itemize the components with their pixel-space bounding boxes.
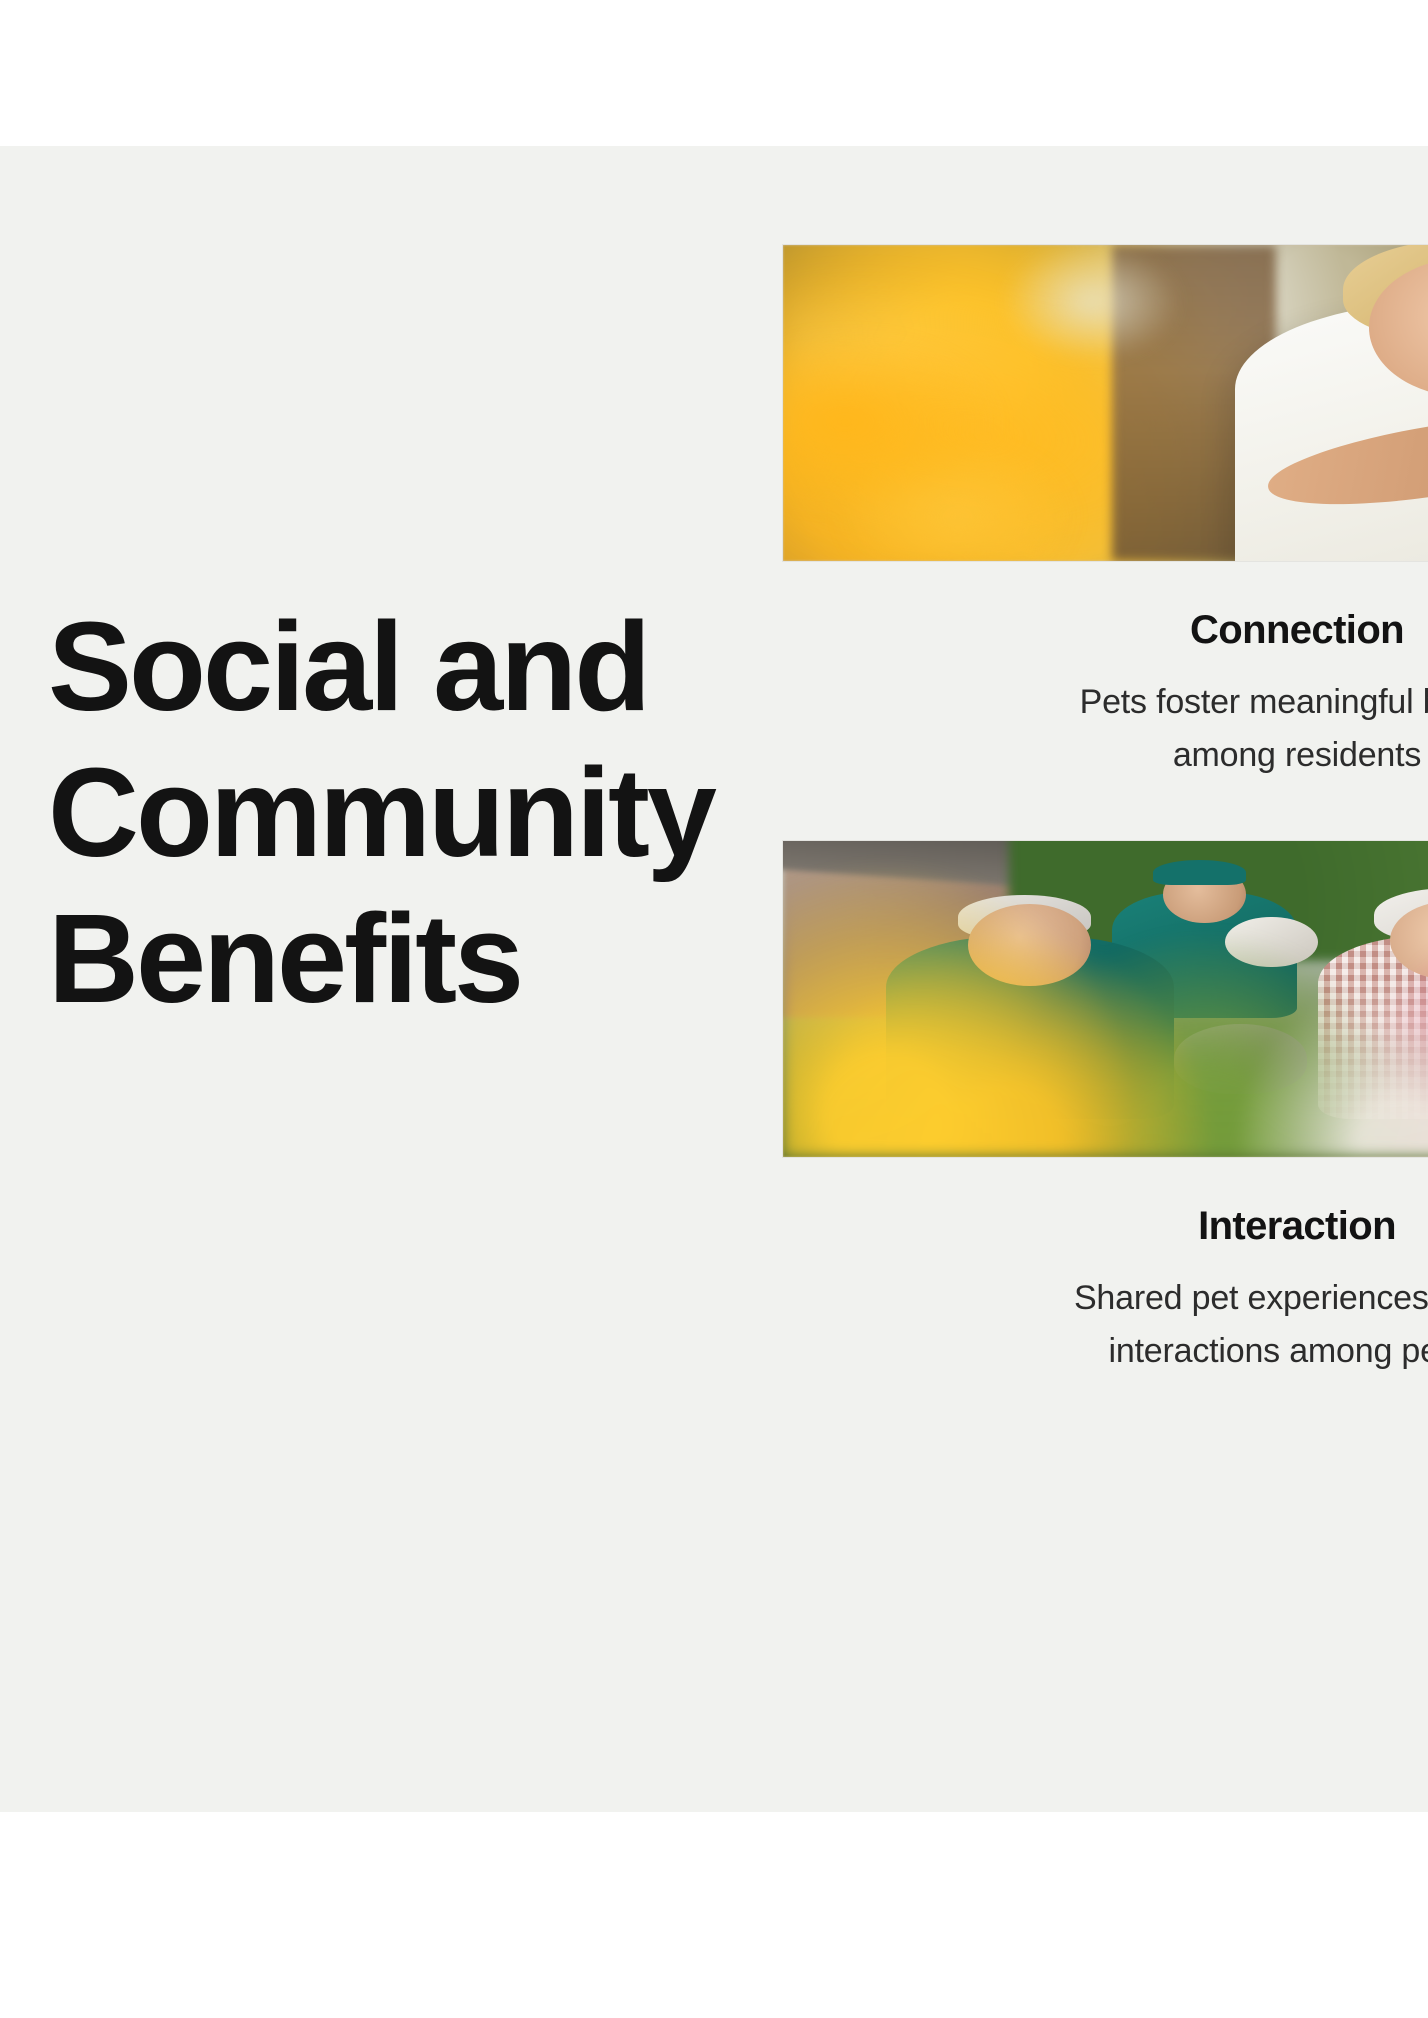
screenshot-canvas: Social and Community Benefits Connection xyxy=(0,0,1428,2018)
card-title: Interaction xyxy=(782,1202,1428,1250)
foreground-flowers-bokeh xyxy=(783,245,1428,561)
feature-cards-column: Connection Pets foster meaningful bonds … xyxy=(782,244,1428,1378)
headline-column: Social and Community Benefits xyxy=(48,594,748,1032)
page-title: Social and Community Benefits xyxy=(48,594,748,1032)
foreground-flowers-bokeh xyxy=(783,841,1428,1157)
photo-volunteers-with-dogs xyxy=(782,840,1428,1158)
card-body: Shared pet experiences spark interaction… xyxy=(782,1272,1428,1378)
feature-card-interaction[interactable]: Interaction Shared pet experiences spark… xyxy=(782,840,1428,1378)
presentation-slide: Social and Community Benefits Connection xyxy=(0,146,1428,1812)
card-title: Connection xyxy=(782,606,1428,654)
feature-card-connection[interactable]: Connection Pets foster meaningful bonds … xyxy=(782,244,1428,782)
card-body: Pets foster meaningful bonds among resid… xyxy=(782,676,1428,782)
photo-senior-woman-with-dog xyxy=(782,244,1428,562)
